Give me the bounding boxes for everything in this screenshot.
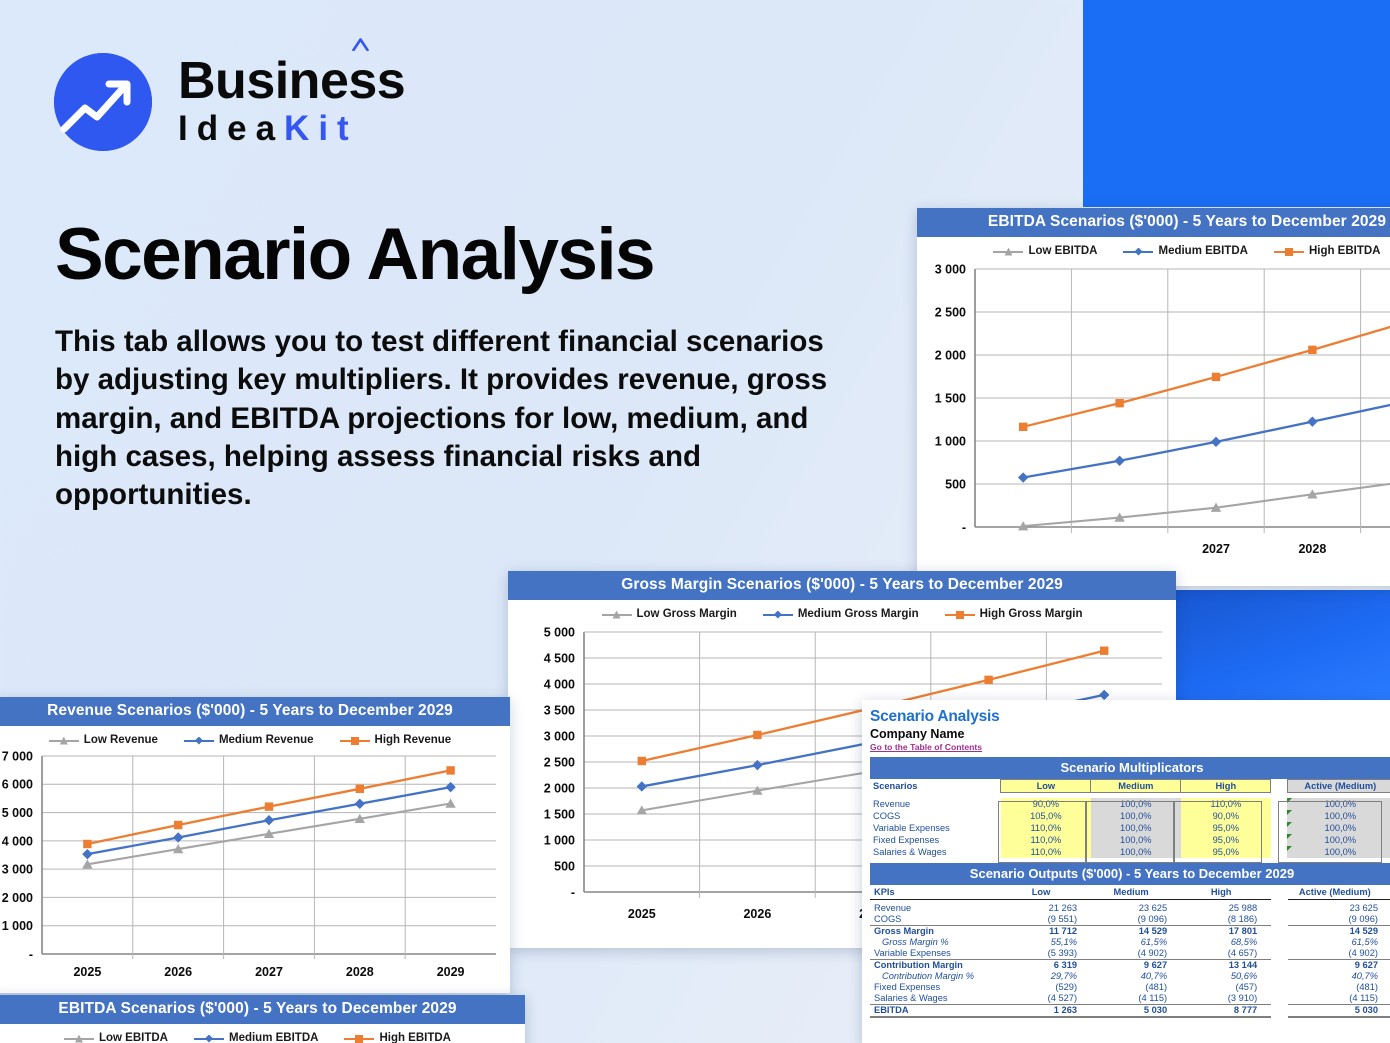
svg-text:2025: 2025 <box>628 907 656 921</box>
scenario-multiplicators-table: Scenarios Low Medium High Active (Medium… <box>870 779 1390 858</box>
table-row: COGS (9 551) (9 096) (8 186) (9 096) <box>870 914 1390 926</box>
svg-text:-: - <box>962 520 966 534</box>
cell-medium[interactable]: 100,0% <box>1091 834 1181 846</box>
brand-kit-text: Kit <box>284 109 358 148</box>
cell-high: (8 186) <box>1181 914 1271 926</box>
cell-medium[interactable]: 100,0% <box>1091 798 1181 810</box>
legend-item-low-revenue: Low Revenue <box>49 734 158 746</box>
table-row: Contribution Margin 6 319 9 627 13 144 9… <box>870 959 1390 971</box>
spacer-cell <box>1271 887 1287 900</box>
svg-text:3 000: 3 000 <box>935 262 966 276</box>
cell-medium: 61,5% <box>1091 937 1181 948</box>
spacer-cell <box>1271 982 1287 993</box>
legend-label-medium: Medium Revenue <box>219 734 314 746</box>
row-label: COGS <box>870 810 1001 822</box>
table-row: Contribution Margin % 29,7% 40,7% 50,6% … <box>870 971 1390 982</box>
svg-text:2027: 2027 <box>1202 542 1230 556</box>
chart-card-ebitda-bottom: EBITDA Scenarios ($'000) - 5 Years to De… <box>0 995 525 1043</box>
band-scenario-outputs: Scenario Outputs ($'000) - 5 Years to De… <box>870 863 1390 885</box>
svg-text:2029: 2029 <box>437 965 465 979</box>
cell-low: 55,1% <box>1001 937 1091 948</box>
cell-low: 6 319 <box>1001 959 1091 971</box>
sheet-heading: Scenario Analysis <box>870 708 1390 726</box>
legend-item-medium-revenue: Medium Revenue <box>184 734 314 746</box>
brand-name-line2: IdeaKit <box>178 110 405 149</box>
header-high: High <box>1181 887 1271 900</box>
svg-text:2026: 2026 <box>164 965 192 979</box>
cell-active: 100,0% <box>1287 810 1390 822</box>
page-description: This tab allows you to test different fi… <box>55 323 855 515</box>
row-label: Gross Margin % <box>870 937 1001 948</box>
cell-low[interactable]: 90,0% <box>1001 798 1091 810</box>
chart-title-revenue: Revenue Scenarios ($'000) - 5 Years to D… <box>0 697 510 726</box>
chart-legend-ebitda-top: Low EBITDA Medium EBITDA High EBITDA <box>917 237 1390 259</box>
legend-marker-high-icon <box>340 735 370 746</box>
cell-medium: 5 030 <box>1091 1004 1181 1017</box>
decorative-blue-block-middle <box>1170 590 1390 700</box>
table-row: Fixed Expenses 110,0% 100,0% 95,0% 100,0… <box>870 834 1390 846</box>
spacer-cell <box>1271 959 1287 971</box>
spacer-cell <box>1271 903 1287 914</box>
table-header-row: Scenarios Low Medium High Active (Medium… <box>870 780 1390 793</box>
svg-text:2027: 2027 <box>255 965 283 979</box>
chart-card-revenue: Revenue Scenarios ($'000) - 5 Years to D… <box>0 697 510 993</box>
cell-low: (5 393) <box>1001 948 1091 960</box>
spacer-cell <box>1271 822 1287 834</box>
plot-area-ebitda-top: -5001 0001 5002 0002 5003 00020272028202… <box>917 259 1390 579</box>
header-medium: Medium <box>1091 780 1181 793</box>
svg-text:1 000: 1 000 <box>544 833 575 847</box>
brand-logo: Business IdeaKit <box>54 53 405 151</box>
cell-active: 14 529 <box>1288 925 1390 937</box>
legend-marker-low-icon <box>602 609 632 620</box>
legend-label-low: Low EBITDA <box>99 1032 168 1043</box>
legend-item-high-ebitda: High EBITDA <box>1274 245 1381 257</box>
svg-text:-: - <box>29 947 33 961</box>
table-row: Salaries & Wages 110,0% 100,0% 95,0% 100… <box>870 846 1390 858</box>
cell-high: (457) <box>1181 982 1271 993</box>
header-active: Active (Medium) <box>1288 887 1390 900</box>
header-scenarios: Scenarios <box>870 780 1001 793</box>
header-low: Low <box>1001 887 1091 900</box>
legend-label-high: High Gross Margin <box>980 608 1083 620</box>
legend-marker-medium-icon <box>184 735 214 746</box>
svg-text:2 000: 2 000 <box>544 781 575 795</box>
legend-marker-high-icon <box>1274 246 1304 257</box>
svg-text:4 000: 4 000 <box>2 834 33 848</box>
legend-label-low: Low Gross Margin <box>637 608 737 620</box>
legend-item-high-revenue: High Revenue <box>340 734 452 746</box>
plot-area-revenue: -1 0002 0003 0004 0005 0006 0007 0002025… <box>0 748 510 993</box>
svg-text:2028: 2028 <box>1298 542 1326 556</box>
svg-text:1 000: 1 000 <box>935 434 966 448</box>
svg-text:2028: 2028 <box>346 965 374 979</box>
cell-high: 25 988 <box>1181 903 1271 914</box>
legend-label-high: High EBITDA <box>379 1032 451 1043</box>
table-row: Revenue 21 263 23 625 25 988 23 625 <box>870 903 1390 914</box>
svg-text:1 500: 1 500 <box>935 391 966 405</box>
table-row: Variable Expenses 110,0% 100,0% 95,0% 10… <box>870 822 1390 834</box>
svg-text:2 000: 2 000 <box>2 891 33 905</box>
cell-high[interactable]: 90,0% <box>1181 810 1271 822</box>
svg-text:6 000: 6 000 <box>2 778 33 792</box>
cell-high: 68,5% <box>1181 937 1271 948</box>
svg-text:5 000: 5 000 <box>544 625 575 639</box>
cell-medium: (481) <box>1091 982 1181 993</box>
cell-medium: 14 529 <box>1091 925 1181 937</box>
spacer-cell <box>1271 834 1287 846</box>
legend-label-high: High Revenue <box>375 734 452 746</box>
cell-high: 13 144 <box>1181 959 1271 971</box>
cell-low[interactable]: 105,0% <box>1001 810 1091 822</box>
cell-low[interactable]: 110,0% <box>1001 846 1091 858</box>
row-label: EBITDA <box>870 1004 1001 1017</box>
legend-item-medium-gross-margin: Medium Gross Margin <box>763 608 919 620</box>
spacer-cell <box>1271 993 1287 1005</box>
cell-medium: 40,7% <box>1091 971 1181 982</box>
spacer-cell <box>1271 810 1287 822</box>
cell-medium: (9 096) <box>1091 914 1181 926</box>
legend-marker-low-icon <box>64 1033 94 1043</box>
chart-legend-ebitda-bottom: Low EBITDA Medium EBITDA High EBITDA <box>0 1024 525 1043</box>
band-scenario-multiplicators: Scenario Multiplicators <box>870 757 1390 779</box>
page-title: Scenario Analysis <box>55 213 654 296</box>
chart-title-ebitda-top: EBITDA Scenarios ($'000) - 5 Years to De… <box>917 208 1390 237</box>
cell-medium[interactable]: 100,0% <box>1091 846 1181 858</box>
row-label: Gross Margin <box>870 925 1001 937</box>
cell-medium: (4 902) <box>1091 948 1181 960</box>
cell-low: 29,7% <box>1001 971 1091 982</box>
cell-active: 40,7% <box>1288 971 1390 982</box>
row-label: Salaries & Wages <box>870 846 1001 858</box>
table-row: COGS 105,0% 100,0% 90,0% 100,0% <box>870 810 1390 822</box>
table-row: Revenue 90,0% 100,0% 110,0% 100,0% <box>870 798 1390 810</box>
scenario-outputs-table: KPIs Low Medium High Active (Medium) Rev… <box>870 887 1390 1018</box>
cell-active: 100,0% <box>1287 798 1390 810</box>
svg-text:2 500: 2 500 <box>935 305 966 319</box>
chart-card-ebitda-top: EBITDA Scenarios ($'000) - 5 Years to De… <box>917 208 1390 586</box>
row-label: Salaries & Wages <box>870 993 1001 1005</box>
cell-active: 100,0% <box>1287 834 1390 846</box>
scenario-analysis-sheet-panel: Scenario Analysis Company Name Go to the… <box>862 700 1390 1043</box>
svg-text:1 000: 1 000 <box>2 919 33 933</box>
header-kpis: KPIs <box>870 887 1001 900</box>
svg-text:2 000: 2 000 <box>935 348 966 362</box>
header-medium: Medium <box>1091 887 1181 900</box>
legend-item-low-ebitda: Low EBITDA <box>993 245 1097 257</box>
row-label: Fixed Expenses <box>870 982 1001 993</box>
cell-low: (9 551) <box>1001 914 1091 926</box>
spacer-cell <box>1271 846 1287 858</box>
header-active: Active (Medium) <box>1287 780 1390 793</box>
legend-item-low-ebitda: Low EBITDA <box>64 1032 168 1043</box>
cell-low[interactable]: 110,0% <box>1001 822 1091 834</box>
cell-high: (4 657) <box>1181 948 1271 960</box>
header-high: High <box>1181 780 1271 793</box>
legend-marker-high-icon <box>945 609 975 620</box>
legend-item-high-ebitda: High EBITDA <box>344 1032 451 1043</box>
cell-active: 61,5% <box>1288 937 1390 948</box>
svg-text:2026: 2026 <box>743 907 771 921</box>
cell-low[interactable]: 110,0% <box>1001 834 1091 846</box>
svg-text:7 000: 7 000 <box>2 749 33 763</box>
legend-item-medium-ebitda: Medium EBITDA <box>194 1032 318 1043</box>
row-label: Contribution Margin % <box>870 971 1001 982</box>
spacer-cell <box>1271 780 1287 793</box>
legend-item-high-gross-margin: High Gross Margin <box>945 608 1083 620</box>
spacer-cell <box>1271 914 1287 926</box>
svg-text:500: 500 <box>554 859 575 873</box>
svg-text:3 500: 3 500 <box>544 703 575 717</box>
cell-low: 1 263 <box>1001 1004 1091 1017</box>
svg-text:5 000: 5 000 <box>2 806 33 820</box>
cell-active: 23 625 <box>1288 903 1390 914</box>
cell-medium: (4 115) <box>1091 993 1181 1005</box>
cell-low: (529) <box>1001 982 1091 993</box>
table-row: Variable Expenses (5 393) (4 902) (4 657… <box>870 948 1390 960</box>
row-label: Contribution Margin <box>870 959 1001 971</box>
cell-low: 21 263 <box>1001 903 1091 914</box>
spacer-cell <box>1271 971 1287 982</box>
table-row: Gross Margin 11 712 14 529 17 801 14 529 <box>870 925 1390 937</box>
row-label: Revenue <box>870 903 1001 914</box>
svg-text:3 000: 3 000 <box>2 863 33 877</box>
legend-label-low: Low Revenue <box>84 734 158 746</box>
legend-label-low: Low EBITDA <box>1028 245 1097 257</box>
row-label: Variable Expenses <box>870 822 1001 834</box>
cell-high: (3 910) <box>1181 993 1271 1005</box>
table-header-row: KPIs Low Medium High Active (Medium) <box>870 887 1390 900</box>
legend-label-medium: Medium Gross Margin <box>798 608 919 620</box>
legend-label-high: High EBITDA <box>1309 245 1381 257</box>
svg-text:3 000: 3 000 <box>544 729 575 743</box>
row-label: COGS <box>870 914 1001 926</box>
legend-item-low-gross-margin: Low Gross Margin <box>602 608 737 620</box>
cell-high: 50,6% <box>1181 971 1271 982</box>
svg-text:-: - <box>571 885 575 899</box>
spacer-cell <box>1271 925 1287 937</box>
row-label: Revenue <box>870 798 1001 810</box>
cell-high[interactable]: 95,0% <box>1181 822 1271 834</box>
svg-text:2025: 2025 <box>73 965 101 979</box>
legend-item-medium-ebitda: Medium EBITDA <box>1123 245 1247 257</box>
cell-low: 11 712 <box>1001 925 1091 937</box>
cell-high: 8 777 <box>1181 1004 1271 1017</box>
cell-active: 100,0% <box>1287 846 1390 858</box>
svg-text:4 500: 4 500 <box>544 651 575 665</box>
spacer-cell <box>1271 948 1287 960</box>
table-row: EBITDA 1 263 5 030 8 777 5 030 <box>870 1004 1390 1017</box>
spacer-cell <box>1271 1004 1287 1017</box>
cell-active: 9 627 <box>1288 959 1390 971</box>
svg-text:2 500: 2 500 <box>544 755 575 769</box>
sheet-company-name: Company Name <box>870 727 1390 741</box>
cell-medium[interactable]: 100,0% <box>1091 822 1181 834</box>
cell-high[interactable]: 95,0% <box>1181 846 1271 858</box>
cell-active: 5 030 <box>1288 1004 1390 1017</box>
cell-active: (9 096) <box>1288 914 1390 926</box>
table-row: Gross Margin % 55,1% 61,5% 68,5% 61,5% <box>870 937 1390 948</box>
chart-legend-revenue: Low Revenue Medium Revenue High Revenue <box>0 726 510 748</box>
cell-active: (4 115) <box>1288 993 1390 1005</box>
decorative-blue-block-top <box>1083 0 1390 207</box>
table-row: Salaries & Wages (4 527) (4 115) (3 910)… <box>870 993 1390 1005</box>
cell-active: 100,0% <box>1287 822 1390 834</box>
legend-marker-medium-icon <box>1123 246 1153 257</box>
cell-low: (4 527) <box>1001 993 1091 1005</box>
cell-high[interactable]: 110,0% <box>1181 798 1271 810</box>
caret-accent-icon <box>352 38 369 51</box>
cell-active: (4 902) <box>1288 948 1390 960</box>
legend-marker-medium-icon <box>763 609 793 620</box>
spacer-cell <box>1271 937 1287 948</box>
cell-high: 17 801 <box>1181 925 1271 937</box>
brand-business-text: Business <box>178 52 405 110</box>
cell-medium: 9 627 <box>1091 959 1181 971</box>
row-label: Fixed Expenses <box>870 834 1001 846</box>
cell-active: (481) <box>1288 982 1390 993</box>
legend-marker-high-icon <box>344 1033 374 1043</box>
cell-medium[interactable]: 100,0% <box>1091 810 1181 822</box>
cell-medium: 23 625 <box>1091 903 1181 914</box>
header-low: Low <box>1001 780 1091 793</box>
chart-title-gross-margin: Gross Margin Scenarios ($'000) - 5 Years… <box>508 571 1176 600</box>
legend-marker-medium-icon <box>194 1033 224 1043</box>
legend-label-medium: Medium EBITDA <box>229 1032 318 1043</box>
row-label: Variable Expenses <box>870 948 1001 960</box>
svg-text:500: 500 <box>945 477 966 491</box>
legend-marker-low-icon <box>49 735 79 746</box>
legend-label-medium: Medium EBITDA <box>1158 245 1247 257</box>
table-of-contents-link[interactable]: Go to the Table of Contents <box>870 742 982 752</box>
table-row: Fixed Expenses (529) (481) (457) (481) <box>870 982 1390 993</box>
legend-marker-low-icon <box>993 246 1023 257</box>
svg-text:1 500: 1 500 <box>544 807 575 821</box>
scenario-multiplicators-table-wrap: Scenarios Low Medium High Active (Medium… <box>870 779 1390 858</box>
svg-text:4 000: 4 000 <box>544 677 575 691</box>
brand-idea-text: Idea <box>178 109 284 148</box>
cell-high[interactable]: 95,0% <box>1181 834 1271 846</box>
chart-legend-gross-margin: Low Gross Margin Medium Gross Margin Hig… <box>508 600 1176 622</box>
brand-name-line1: Business <box>178 55 405 108</box>
growth-arrow-circle-icon <box>54 53 152 151</box>
chart-title-ebitda-bottom: EBITDA Scenarios ($'000) - 5 Years to De… <box>0 995 525 1024</box>
spacer-cell <box>1271 798 1287 810</box>
